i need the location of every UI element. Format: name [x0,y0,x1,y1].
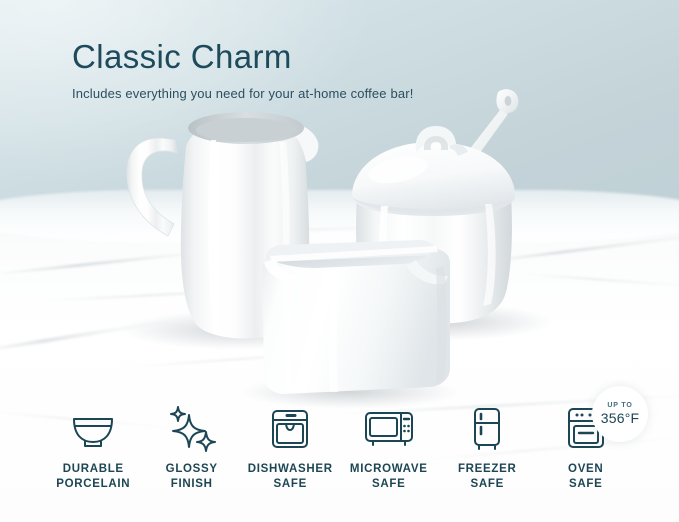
pitcher-interior [196,118,296,142]
sugar-packet-caddy [262,240,450,394]
microwave-icon [363,404,415,454]
feature-label: MICROWAVE SAFE [350,462,428,492]
feature-label: DISHWASHER SAFE [248,462,333,492]
pitcher-handle [127,138,177,236]
temperature-prefix: UP TO [607,401,632,410]
feature-dishwasher-safe: DISHWASHER SAFE [241,404,340,492]
temperature-badge: UP TO 356°F [592,386,648,442]
feature-label: FREEZER SAFE [458,462,517,492]
page-title: Classic Charm [72,38,292,76]
feature-list: DURABLE PORCELAIN GLOSSY FINISH [0,404,679,514]
temperature-value: 356°F [601,410,640,427]
sparkle-icon [167,404,217,454]
feature-label: DURABLE PORCELAIN [56,462,130,492]
dishwasher-icon [269,404,311,454]
page-subtitle: Includes everything you need for your at… [72,86,413,101]
bowl-icon [70,404,116,454]
feature-freezer-safe: FREEZER SAFE [438,404,537,492]
feature-durable-porcelain: DURABLE PORCELAIN [44,404,143,492]
feature-label: GLOSSY FINISH [166,462,218,492]
feature-glossy-finish: GLOSSY FINISH [143,404,242,492]
freezer-icon [470,404,504,454]
feature-label: OVEN SAFE [568,462,603,492]
feature-microwave-safe: MICROWAVE SAFE [340,404,439,492]
spoon-hole [505,96,512,106]
product-feature-banner: Classic Charm Includes everything you ne… [0,0,679,522]
